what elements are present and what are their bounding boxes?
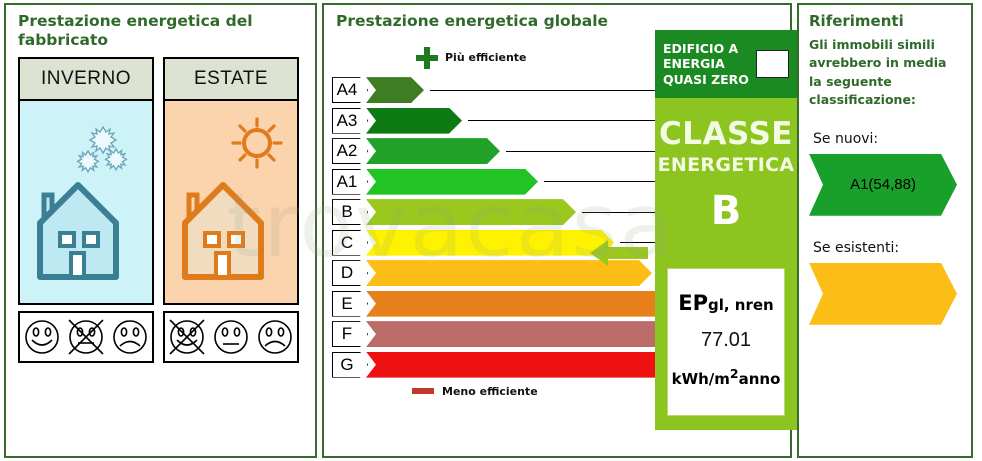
plus-icon bbox=[416, 47, 438, 69]
class-tag-label: B bbox=[341, 202, 352, 222]
least-efficient-label: Meno efficiente bbox=[442, 385, 538, 398]
ep-title-sub: gl, nren bbox=[708, 296, 774, 314]
nzeb-band: EDIFICIO A ENERGIA QUASI ZERO bbox=[655, 30, 797, 98]
class-tag-label: C bbox=[341, 233, 353, 253]
class-tag-label: A4 bbox=[337, 80, 358, 100]
panel-prestazione-fabbricato: Prestazione energetica del fabbricato IN… bbox=[4, 3, 317, 458]
class-tag-label: E bbox=[341, 294, 352, 314]
class-tag-label: A3 bbox=[337, 111, 358, 131]
class-tag-label: F bbox=[342, 324, 352, 344]
class-tag-D: D bbox=[332, 260, 368, 286]
classe-word: CLASSE bbox=[655, 98, 797, 152]
panel-riferimenti-title: Riferimenti bbox=[799, 5, 971, 30]
faces-estate bbox=[163, 311, 299, 363]
nzeb-checkbox[interactable] bbox=[756, 50, 789, 78]
most-efficient-label: Più efficiente bbox=[445, 51, 527, 64]
season-estate-label: ESTATE bbox=[163, 57, 299, 101]
class-tag-B: B bbox=[332, 199, 368, 225]
season-inverno-illustration bbox=[18, 101, 154, 305]
class-tag-label: A1 bbox=[337, 172, 358, 192]
ep-unit-sup: 2 bbox=[730, 366, 739, 381]
riferimenti-existing-arrow bbox=[809, 263, 957, 325]
sun-icon bbox=[227, 115, 287, 175]
ape-certificate: Prestazione energetica del fabbricato IN… bbox=[0, 0, 982, 461]
class-tag-C: C bbox=[332, 230, 368, 256]
riferimenti-existing-label: Se esistenti: bbox=[799, 216, 971, 256]
season-estate-illustration bbox=[163, 101, 299, 305]
class-tag-G: G bbox=[332, 352, 368, 378]
class-bar-B bbox=[366, 199, 576, 225]
ep-value: 77.01 bbox=[701, 329, 751, 352]
class-tag-label: G bbox=[340, 355, 353, 375]
class-tag-A3: A3 bbox=[332, 108, 368, 134]
class-tag-label: D bbox=[341, 263, 353, 283]
face-happy bbox=[23, 318, 61, 356]
class-tag-A1: A1 bbox=[332, 169, 368, 195]
energetica-word: ENERGETICA bbox=[655, 152, 797, 176]
season-inverno-label: INVERNO bbox=[18, 57, 154, 101]
riferimenti-new-arrow: A1(54,88) bbox=[809, 154, 957, 216]
class-bar-C bbox=[366, 230, 614, 256]
class-letter: B bbox=[655, 176, 797, 234]
house-summer-icon bbox=[181, 177, 265, 285]
class-tag-E: E bbox=[332, 291, 368, 317]
class-bar-A3 bbox=[366, 108, 462, 134]
ep-title: EPgl, nren bbox=[678, 291, 773, 315]
class-bar-A2 bbox=[366, 138, 500, 164]
faces-row bbox=[6, 305, 315, 363]
class-bar-E bbox=[366, 291, 690, 317]
ep-unit-suffix: anno bbox=[739, 370, 781, 388]
face-sad bbox=[111, 318, 149, 356]
class-result-box: EDIFICIO A ENERGIA QUASI ZERO CLASSE ENE… bbox=[655, 30, 797, 430]
ep-unit: kWh/m2anno bbox=[672, 366, 781, 388]
selected-class-pointer-icon bbox=[590, 238, 648, 268]
class-tag-F: F bbox=[332, 321, 368, 347]
class-tag-A4: A4 bbox=[332, 77, 368, 103]
nzeb-label: EDIFICIO A ENERGIA QUASI ZERO bbox=[663, 41, 750, 88]
class-bar-A4 bbox=[366, 77, 424, 103]
riferimenti-intro-text: Gli immobili simili avrebbero in media l… bbox=[799, 30, 971, 109]
face-neutral bbox=[212, 318, 250, 356]
house-winter-icon bbox=[36, 177, 120, 285]
face-happy-crossed bbox=[168, 318, 206, 356]
class-bar-A1 bbox=[366, 169, 538, 195]
season-inverno: INVERNO bbox=[18, 57, 154, 305]
faces-inverno bbox=[18, 311, 154, 363]
seasons-row: INVERNO bbox=[6, 50, 315, 305]
minus-icon bbox=[412, 388, 434, 394]
season-estate: ESTATE bbox=[163, 57, 299, 305]
face-sad-2 bbox=[256, 318, 294, 356]
face-neutral-crossed bbox=[67, 318, 105, 356]
ep-box: EPgl, nren 77.01 kWh/m2anno bbox=[667, 268, 785, 416]
panel-fabbricato-title: Prestazione energetica del fabbricato bbox=[6, 5, 268, 50]
class-tag-label: A2 bbox=[337, 141, 358, 161]
riferimenti-new-label: Se nuovi: bbox=[799, 109, 971, 147]
class-tag-A2: A2 bbox=[332, 138, 368, 164]
ep-unit-prefix: kWh/m bbox=[672, 370, 730, 388]
panel-globale-title: Prestazione energetica globale bbox=[324, 5, 790, 31]
ep-title-main: EP bbox=[678, 291, 708, 315]
snowflakes-icon bbox=[76, 125, 134, 175]
panel-riferimenti: Riferimenti Gli immobili simili avrebber… bbox=[797, 3, 973, 458]
